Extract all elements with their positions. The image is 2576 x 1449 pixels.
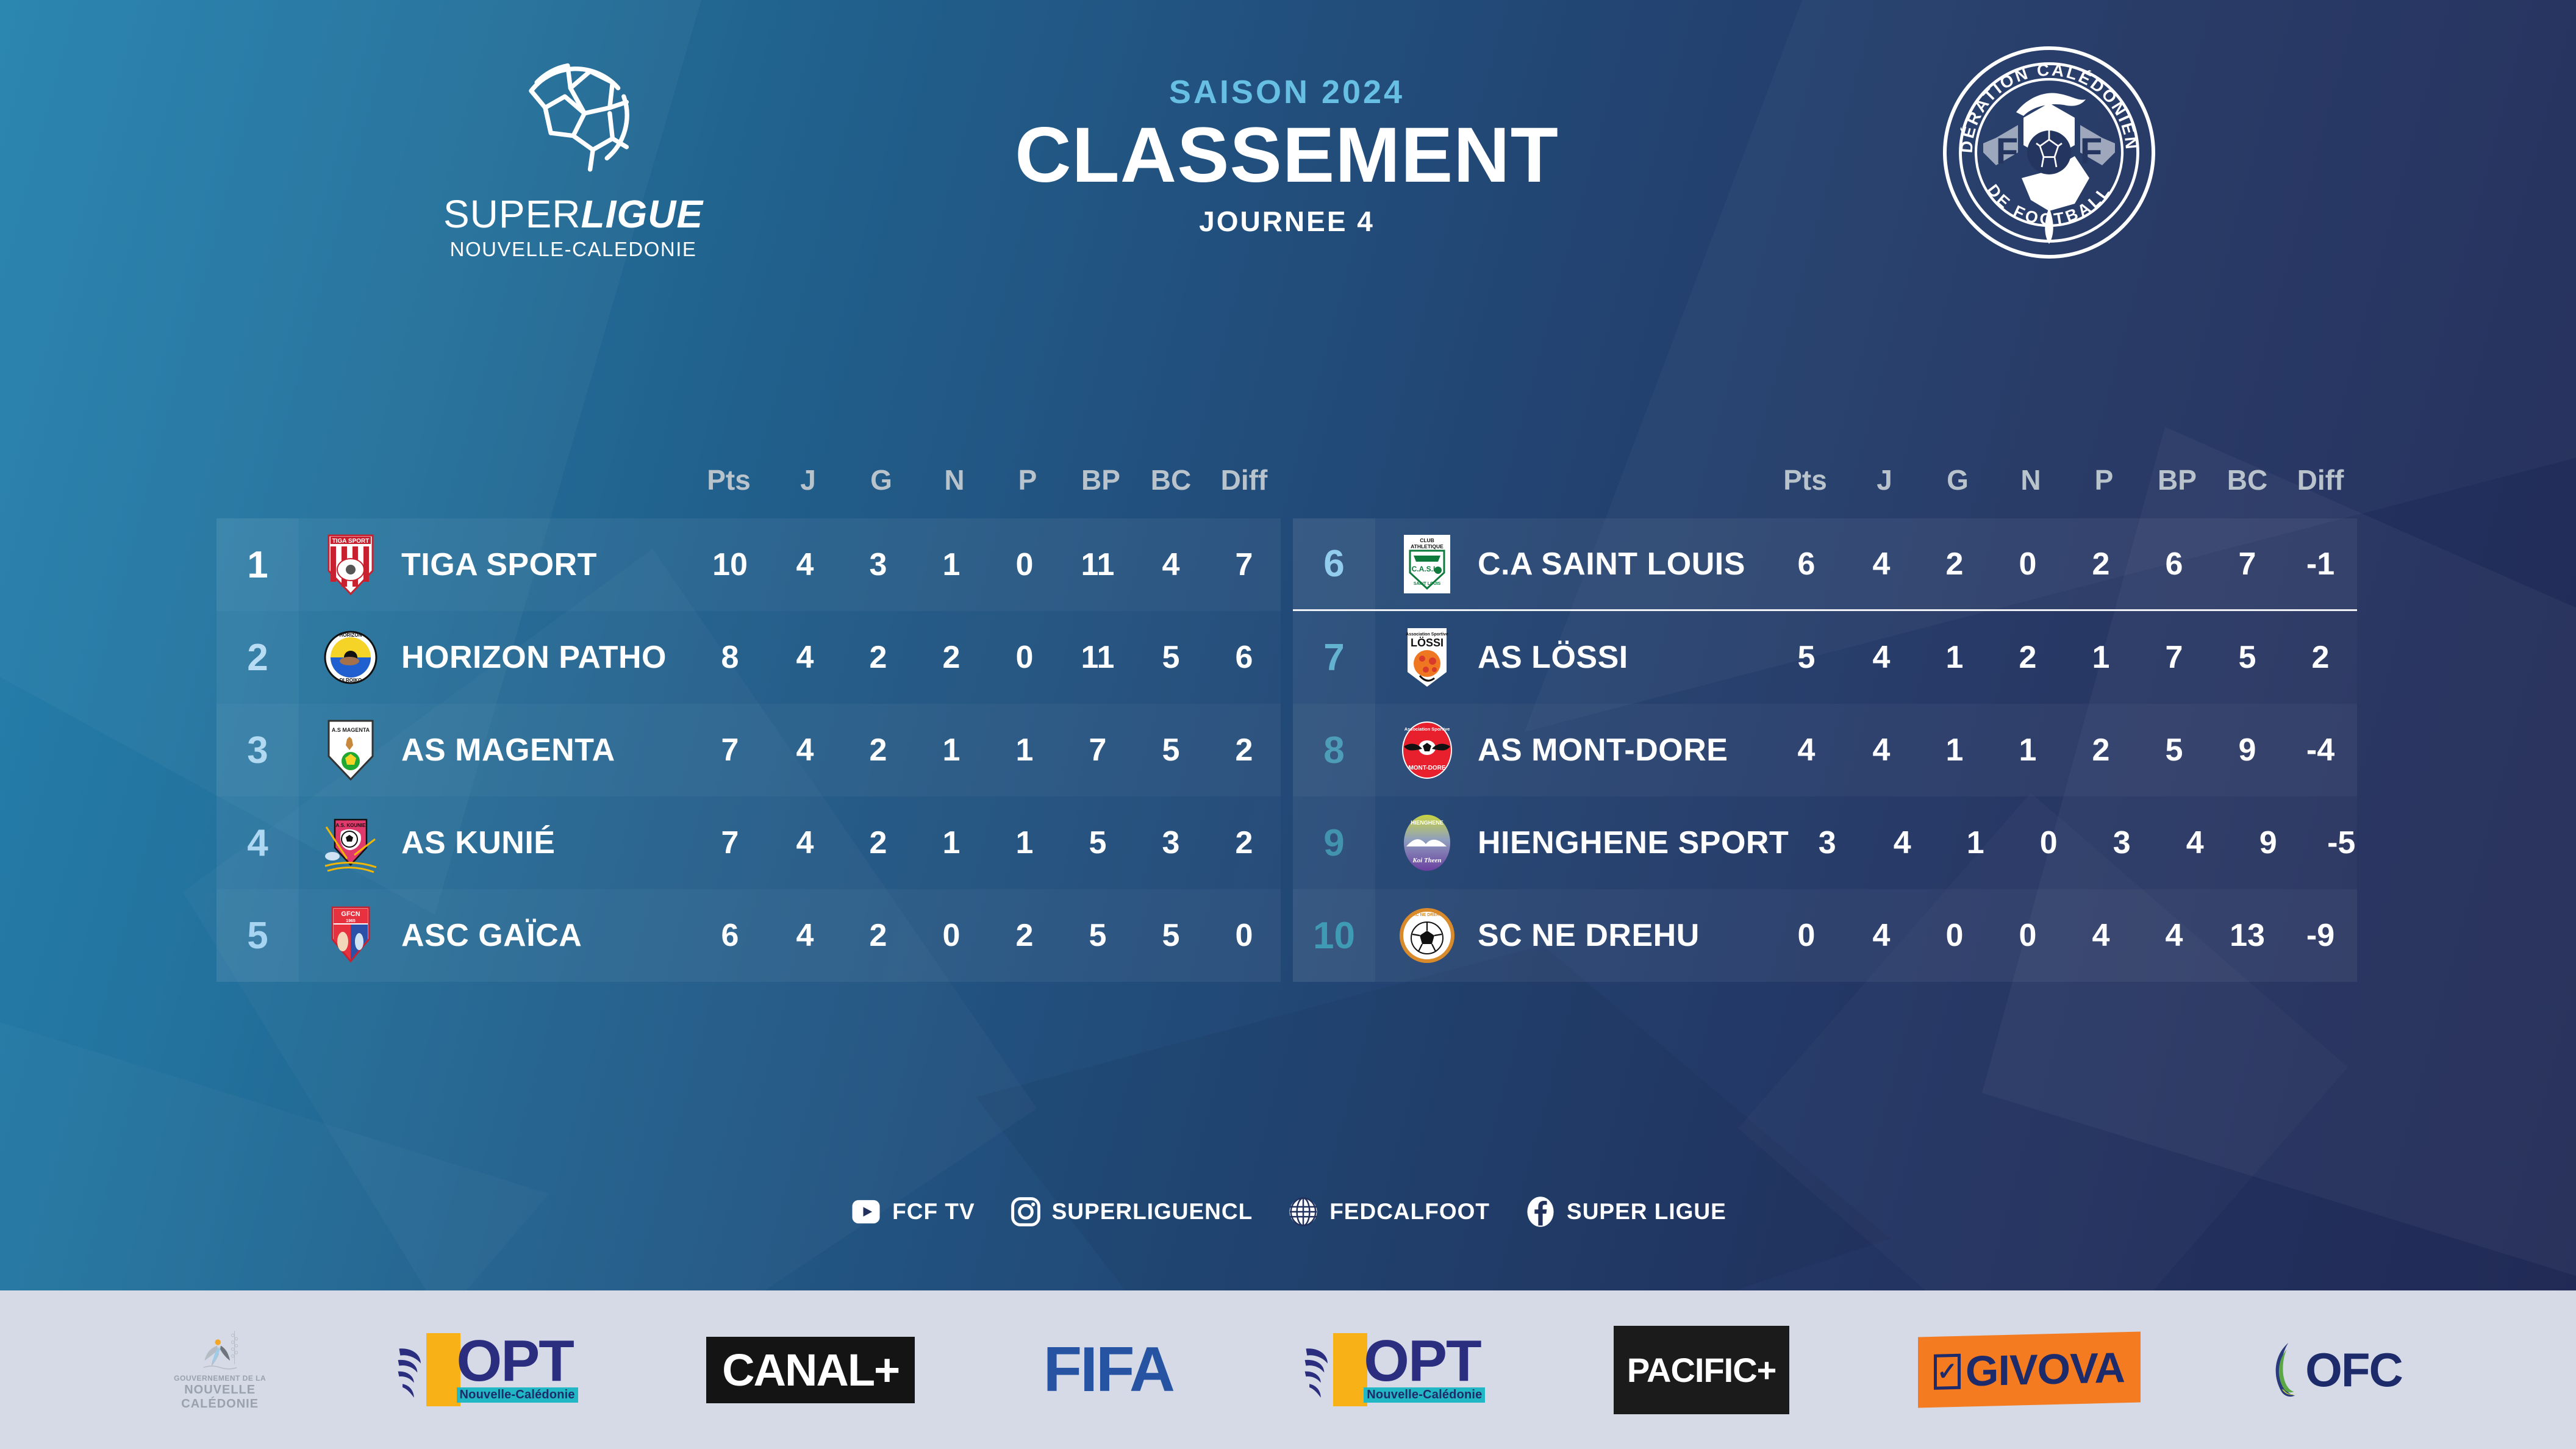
givova-badge: ✓ GIVOVA: [1918, 1332, 2141, 1408]
stat-pts: 6: [1768, 546, 1845, 582]
stat-bc: 4: [1134, 546, 1207, 583]
sponsor-pacific-plus: PACIFIC+: [1614, 1318, 1790, 1422]
sponsor-line2: NOUVELLE: [184, 1383, 256, 1397]
club-crest-icon: TIGA SPORT: [317, 533, 384, 596]
col-header-pts: Pts: [692, 463, 765, 496]
stat-bc: 9: [2231, 825, 2305, 861]
social-bar: FCF TV SUPERLIGUENCL FEDCALFOOT: [0, 1195, 2576, 1228]
stat-n: 2: [1991, 639, 2064, 676]
stat-bc: 3: [1134, 825, 1207, 861]
team-name: SC NE DREHU: [1478, 917, 1768, 954]
superligue-logo: SUPERLIGUE NOUVELLE-CALEDONIE: [427, 49, 720, 293]
ofc-swoosh-icon: [2269, 1333, 2302, 1406]
opt-bird-icon: [395, 1333, 429, 1406]
rank-cell: 5: [216, 889, 299, 982]
stat-bp: 4: [2138, 917, 2211, 954]
team-name: AS KUNIÉ: [401, 825, 692, 861]
stat-p: 0: [988, 639, 1061, 676]
svg-text:HORIZON: HORIZON: [340, 632, 362, 638]
col-header-bp: BP: [2141, 463, 2214, 496]
team-name: C.A SAINT LOUIS: [1478, 546, 1768, 582]
stat-g: 1: [1939, 825, 2012, 861]
stat-n: 0: [1991, 546, 2064, 582]
table-row[interactable]: 8Association SportiveMONT-DOREAS MONT-DO…: [1293, 704, 2357, 796]
svg-text:ATHLETIQUE: ATHLETIQUE: [1411, 543, 1444, 549]
team-stats: 1043101147: [692, 546, 1281, 583]
col-header-bc: BC: [2211, 463, 2284, 496]
stat-j: 4: [1845, 639, 1918, 676]
col-header-diff: Diff: [1207, 463, 1281, 496]
team-stats: 6420267-1: [1768, 546, 2357, 582]
page-header: SUPERLIGUE NOUVELLE-CALEDONIE SAISON 202…: [0, 0, 2576, 342]
stat-bp: 7: [2138, 639, 2211, 676]
stat-bp: 11: [1061, 546, 1134, 583]
stat-j: 4: [768, 917, 842, 954]
svg-text:SAINT LOUIS: SAINT LOUIS: [1414, 582, 1441, 586]
col-header-pts: Pts: [1769, 463, 1842, 496]
opt-bird-icon: [1301, 1333, 1336, 1406]
stat-j: 4: [768, 546, 842, 583]
stat-diff: 2: [1207, 825, 1281, 861]
svg-text:DI ROIKO: DI ROIKO: [340, 678, 362, 683]
svg-text:TIGA SPORT: TIGA SPORT: [332, 538, 370, 545]
stat-p: 1: [2064, 639, 2138, 676]
stat-j: 4: [1845, 732, 1918, 768]
sponsor-canal-plus: CANAL+: [706, 1318, 915, 1422]
stat-diff: 7: [1207, 546, 1281, 583]
opt-subtitle: Nouvelle-Calédonie: [1364, 1387, 1485, 1403]
stat-p: 1: [988, 825, 1061, 861]
team-name: AS MAGENTA: [401, 732, 692, 768]
svg-text:Association Sportive: Association Sportive: [1406, 632, 1448, 637]
col-header-bp: BP: [1064, 463, 1137, 496]
stat-n: 1: [1991, 732, 2064, 768]
stat-bp: 6: [2138, 546, 2211, 582]
table-row[interactable]: 2HORIZONDI ROIKOHORIZON PATHO842201156: [216, 611, 1281, 704]
stat-n: 0: [2012, 825, 2085, 861]
stat-pts: 3: [1789, 825, 1866, 861]
rank-cell: 9: [1293, 796, 1375, 889]
table-row[interactable]: 1TIGA SPORTTIGA SPORT1043101147: [216, 518, 1281, 611]
stat-p: 2: [2064, 732, 2138, 768]
stat-p: 3: [2085, 825, 2158, 861]
standings-table-right: Pts J G N P BP BC Diff 6CLUBATHLETIQUEC.…: [1293, 463, 2357, 982]
stat-p: 4: [2064, 917, 2138, 954]
stat-pts: 6: [692, 917, 768, 954]
stat-bp: 5: [1061, 917, 1134, 954]
team-name: AS MONT-DORE: [1478, 732, 1768, 768]
stat-pts: 8: [692, 639, 768, 676]
stat-bc: 9: [2211, 732, 2284, 768]
team-stats: 3410349-5: [1789, 825, 2378, 861]
rank-cell: 4: [216, 796, 299, 889]
rank-cell: 8: [1293, 704, 1375, 796]
club-crest-icon: HIENGHENEKoi Theen: [1394, 811, 1461, 875]
svg-text:Association Sportive: Association Sportive: [1404, 726, 1450, 732]
table-row[interactable]: 5GFCN1965ASC GAÏCA64202550: [216, 889, 1281, 982]
team-name: ASC GAÏCA: [401, 917, 692, 954]
sponsor-ofc: OFC: [2269, 1318, 2402, 1422]
stat-j: 4: [1845, 546, 1918, 582]
svg-text:LÖSSI: LÖSSI: [1411, 637, 1444, 649]
stat-diff: 6: [1207, 639, 1281, 676]
stat-j: 4: [768, 732, 842, 768]
club-crest-icon: GFCN1965: [317, 904, 384, 967]
youtube-icon: [850, 1195, 882, 1228]
team-stats: 842201156: [692, 639, 1281, 676]
stat-bc: 5: [1134, 639, 1207, 676]
col-header-diff: Diff: [2284, 463, 2357, 496]
sponsor-fifa: FIFA: [1043, 1318, 1173, 1422]
svg-text:HIENGHENE: HIENGHENE: [1411, 820, 1444, 826]
stat-bc: 5: [1134, 917, 1207, 954]
stat-g: 3: [842, 546, 915, 583]
sponsor-givova: ✓ GIVOVA: [1918, 1318, 2141, 1422]
stat-g: 1: [1918, 639, 1991, 676]
team-name: AS LÖSSI: [1478, 639, 1768, 676]
stat-g: 2: [842, 732, 915, 768]
stat-bp: 7: [1061, 732, 1134, 768]
svg-text:S.C NE DREHU: S.C NE DREHU: [1412, 913, 1442, 917]
team-name: HORIZON PATHO: [401, 639, 692, 676]
pacific-plus-wordmark: PACIFIC+: [1614, 1326, 1790, 1414]
sponsor-line3: CALÉDONIE: [181, 1397, 259, 1411]
col-header-j: J: [771, 463, 845, 496]
stat-g: 2: [842, 917, 915, 954]
social-label: FCF TV: [892, 1199, 975, 1225]
ofc-wordmark: OFC: [2305, 1342, 2402, 1398]
svg-text:CLUB: CLUB: [1420, 537, 1434, 543]
standings-rows-right: 6CLUBATHLETIQUEC.A.S.LSAINT LOUISC.A SAI…: [1293, 518, 2357, 982]
stat-j: 4: [1845, 917, 1918, 954]
stat-diff: -9: [2284, 917, 2357, 954]
stat-p: 2: [2064, 546, 2138, 582]
stat-j: 4: [1866, 825, 1939, 861]
club-crest-icon: A.S. KOUNIE: [317, 811, 384, 875]
rank-cell: 3: [216, 704, 299, 796]
social-item-website[interactable]: FEDCALFOOT: [1287, 1195, 1490, 1228]
col-header-g: G: [1921, 463, 1994, 496]
stat-g: 0: [1918, 917, 1991, 954]
social-item-fcf-tv[interactable]: FCF TV: [850, 1195, 975, 1228]
opt-yellow-block: [1333, 1333, 1367, 1406]
superligue-wordmark: SUPERLIGUE: [443, 191, 703, 237]
facebook-icon: [1524, 1195, 1557, 1228]
stat-bp: 4: [2158, 825, 2231, 861]
social-label: SUPERLIGUENCL: [1052, 1199, 1253, 1225]
col-header-g: G: [845, 463, 918, 496]
superligue-subtitle: NOUVELLE-CALEDONIE: [450, 238, 697, 261]
svg-text:A.S MAGENTA: A.S MAGENTA: [332, 727, 370, 733]
col-header-p: P: [991, 463, 1064, 496]
table-row[interactable]: 7Association SportiveLÖSSIAS LÖSSI541217…: [1293, 611, 2357, 704]
team-name: TIGA SPORT: [401, 546, 692, 583]
social-item-facebook[interactable]: SUPER LIGUE: [1524, 1195, 1726, 1228]
instagram-icon: [1009, 1195, 1042, 1228]
team-stats: 74211532: [692, 825, 1281, 861]
sponsor-gouvernement-nouvelle-caledonie: GOUVERNEMENT DE LA NOUVELLE CALÉDONIE: [174, 1318, 266, 1422]
stat-bp: 5: [1061, 825, 1134, 861]
column-headers-left: Pts J G N P BP BC Diff: [216, 463, 1281, 518]
col-header-j: J: [1848, 463, 1921, 496]
stat-n: 0: [915, 917, 988, 954]
stat-bp: 11: [1061, 639, 1134, 676]
stat-p: 2: [988, 917, 1061, 954]
stat-n: 1: [915, 825, 988, 861]
opt-wordmark: OPT: [1364, 1337, 1480, 1386]
club-crest-icon: A.S MAGENTA: [317, 718, 384, 782]
club-crest-icon: Association SportiveMONT-DORE: [1394, 718, 1461, 782]
stat-bc: 7: [2211, 546, 2284, 582]
team-stats: 74211752: [692, 732, 1281, 768]
sponsor-opt-2: OPT Nouvelle-Calédonie: [1301, 1318, 1485, 1422]
social-label: FEDCALFOOT: [1329, 1199, 1490, 1225]
sponsor-bar: GOUVERNEMENT DE LA NOUVELLE CALÉDONIE OP…: [0, 1290, 2576, 1449]
title-block: SAISON 2024 CLASSEMENT JOURNEE 4: [884, 73, 1689, 238]
stat-diff: -1: [2284, 546, 2357, 582]
rank-cell: 10: [1293, 889, 1375, 982]
club-crest-icon: CLUBATHLETIQUEC.A.S.LSAINT LOUIS: [1394, 532, 1461, 596]
col-header-bc: BC: [1134, 463, 1207, 496]
stat-n: 2: [915, 639, 988, 676]
rank-cell: 2: [216, 611, 299, 704]
stat-j: 4: [768, 825, 842, 861]
superligue-word-ligue: LIGUE: [581, 192, 703, 236]
table-row[interactable]: 10S.C NE DREHUSC NE DREHU04004413-9: [1293, 889, 2357, 982]
opt-wordmark: OPT: [457, 1337, 573, 1386]
page-title: CLASSEMENT: [884, 115, 1689, 196]
stat-diff: -4: [2284, 732, 2357, 768]
superligue-word-super: SUPER: [443, 192, 581, 236]
svg-text:GFCN: GFCN: [341, 911, 360, 918]
table-row[interactable]: 6CLUBATHLETIQUEC.A.S.LSAINT LOUISC.A SAI…: [1293, 518, 2357, 611]
stat-p: 1: [988, 732, 1061, 768]
svg-text:A.S. KOUNIE: A.S. KOUNIE: [336, 823, 367, 828]
stat-g: 2: [842, 639, 915, 676]
column-headers-right: Pts J G N P BP BC Diff: [1293, 463, 2357, 518]
stat-pts: 7: [692, 825, 768, 861]
stat-bc: 5: [1134, 732, 1207, 768]
federation-logo: FÉDÉRATION CALÉDONIENNE DE FOOTBALL F F: [1939, 43, 2159, 262]
club-crest-icon: S.C NE DREHU: [1394, 904, 1461, 967]
col-header-p: P: [2067, 463, 2141, 496]
globe-icon: [1287, 1195, 1320, 1228]
sponsor-line1: GOUVERNEMENT DE LA: [174, 1375, 266, 1383]
stat-diff: 0: [1207, 917, 1281, 954]
sponsor-opt-1: OPT Nouvelle-Calédonie: [395, 1318, 578, 1422]
svg-text:Koi Theen: Koi Theen: [1412, 857, 1441, 864]
rank-cell: 6: [1293, 518, 1375, 609]
stat-pts: 7: [692, 732, 768, 768]
svg-text:F: F: [2080, 131, 2103, 171]
soccer-ball-icon: [503, 49, 643, 189]
stat-pts: 4: [1768, 732, 1845, 768]
svg-text:F: F: [1996, 131, 2019, 171]
stat-diff: -5: [2305, 825, 2378, 861]
team-stats: 54121752: [1768, 639, 2357, 676]
stat-g: 2: [1918, 546, 1991, 582]
opt-subtitle: Nouvelle-Calédonie: [457, 1387, 578, 1403]
svg-text:1965: 1965: [346, 919, 356, 923]
club-crest-icon: Association SportiveLÖSSI: [1394, 626, 1461, 689]
stat-diff: 2: [2284, 639, 2357, 676]
standings-rows-left: 1TIGA SPORTTIGA SPORT10431011472HORIZOND…: [216, 518, 1281, 982]
table-row[interactable]: 3A.S MAGENTAAS MAGENTA74211752: [216, 704, 1281, 796]
team-name: HIENGHENE SPORT: [1478, 825, 1789, 861]
matchday-label: JOURNEE 4: [884, 205, 1689, 238]
stat-n: 0: [1991, 917, 2064, 954]
social-item-instagram[interactable]: SUPERLIGUENCL: [1009, 1195, 1253, 1228]
opt-yellow-block: [426, 1333, 460, 1406]
social-label: SUPER LIGUE: [1567, 1199, 1726, 1225]
table-row[interactable]: 9HIENGHENEKoi TheenHIENGHENE SPORT341034…: [1293, 796, 2357, 889]
stat-pts: 10: [692, 546, 768, 583]
canal-plus-wordmark: CANAL+: [706, 1337, 915, 1403]
svg-text:C.A.S.L: C.A.S.L: [1412, 565, 1438, 573]
club-crest-icon: HORIZONDI ROIKO: [317, 626, 384, 689]
col-header-n: N: [1994, 463, 2067, 496]
stat-pts: 5: [1768, 639, 1845, 676]
stat-p: 0: [988, 546, 1061, 583]
stat-diff: 2: [1207, 732, 1281, 768]
team-stats: 64202550: [692, 917, 1281, 954]
fifa-wordmark: FIFA: [1043, 1334, 1173, 1406]
rank-cell: 1: [216, 518, 299, 611]
stat-bp: 5: [2138, 732, 2211, 768]
stat-j: 4: [768, 639, 842, 676]
stat-bc: 5: [2211, 639, 2284, 676]
givova-wordmark: GIVOVA: [1966, 1343, 2125, 1395]
standings-table-left: Pts J G N P BP BC Diff 1TIGA SPORTTIGA S…: [216, 463, 1281, 982]
stat-n: 1: [915, 546, 988, 583]
season-label: SAISON 2024: [884, 73, 1689, 111]
stat-g: 2: [842, 825, 915, 861]
gouvernement-emblem-icon: [200, 1328, 240, 1375]
team-stats: 4411259-4: [1768, 732, 2357, 768]
stat-pts: 0: [1768, 917, 1845, 954]
team-stats: 04004413-9: [1768, 917, 2357, 954]
stat-n: 1: [915, 732, 988, 768]
stat-g: 1: [1918, 732, 1991, 768]
svg-text:MONT-DORE: MONT-DORE: [1408, 765, 1445, 771]
rank-cell: 7: [1293, 611, 1375, 704]
stat-bc: 13: [2211, 917, 2284, 954]
givova-check-icon: ✓: [1934, 1354, 1961, 1390]
table-row[interactable]: 4A.S. KOUNIEAS KUNIÉ74211532: [216, 796, 1281, 889]
col-header-n: N: [918, 463, 991, 496]
